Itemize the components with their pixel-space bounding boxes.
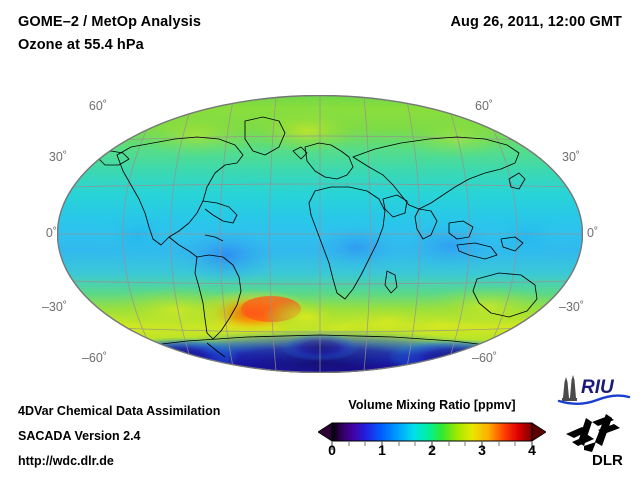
ozone-heatmap-globe — [57, 95, 583, 373]
timestamp-label: Aug 26, 2011, 12:00 GMT — [450, 14, 622, 30]
map-data-layer — [57, 95, 583, 373]
colorbar: Volume Mixing Ratio [ppmv] — [318, 398, 546, 476]
lat-label-left-60: 60˚ — [0, 99, 107, 113]
colorbar-tick-4: 4 — [528, 442, 536, 458]
colorbar-tick-0: 0 — [328, 442, 336, 458]
lat-label-right-30: 30˚ — [562, 150, 580, 164]
globe-container: 60˚ 30˚ 0˚ –30˚ –60˚ 60˚ 30˚ 0˚ –30˚ –60… — [57, 95, 583, 373]
page-subtitle: Ozone at 55.4 hPa — [18, 37, 144, 53]
riu-logo: RIU — [557, 374, 631, 408]
dlr-mark-icon — [566, 414, 620, 452]
lat-label-left-minus30: –30˚ — [0, 300, 67, 314]
lat-label-right-0: 0˚ — [587, 226, 598, 240]
footer-version-label: SACADA Version 2.4 — [18, 429, 141, 443]
cathedral-icon — [562, 375, 577, 401]
colorbar-tick-2: 2 — [428, 442, 436, 458]
colorbar-high-cap — [532, 423, 546, 441]
riu-wordmark: RIU — [581, 377, 615, 398]
footer-assimilation-label: 4DVar Chemical Data Assimilation — [18, 404, 220, 418]
colorbar-tick-1: 1 — [378, 442, 386, 458]
lat-label-right-minus30: –30˚ — [559, 300, 584, 314]
footer-url-link[interactable]: http://wdc.dlr.de — [18, 454, 114, 468]
colorbar-gradient — [332, 423, 532, 441]
lat-label-right-minus60: –60˚ — [472, 351, 497, 365]
colorbar-low-cap — [318, 423, 332, 441]
lat-label-left-minus60: –60˚ — [0, 351, 107, 365]
dlr-logo: DLR — [562, 412, 630, 468]
map-panel: 60˚ 30˚ 0˚ –30˚ –60˚ 60˚ 30˚ 0˚ –30˚ –60… — [0, 85, 640, 385]
lat-label-left-0: 0˚ — [0, 226, 57, 240]
page-title: GOME–2 / MetOp Analysis — [18, 14, 201, 30]
lat-label-right-60: 60˚ — [475, 99, 493, 113]
colorbar-tick-3: 3 — [478, 442, 486, 458]
lat-label-left-30: 30˚ — [0, 150, 67, 164]
dlr-wordmark: DLR — [592, 452, 623, 468]
colorbar-title: Volume Mixing Ratio [ppmv] — [318, 398, 546, 412]
